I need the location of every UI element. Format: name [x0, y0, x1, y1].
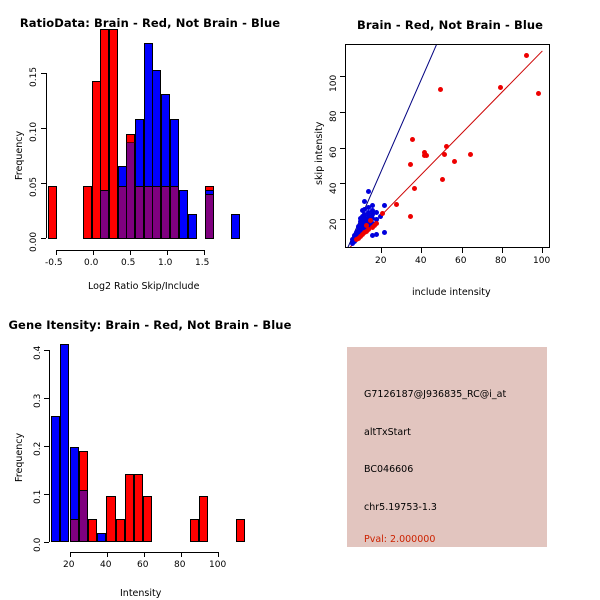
ratio-y-tick-2 — [41, 128, 46, 129]
ratio-histogram-panel: RatioData: Brain - Red, Not Brain - Blue… — [0, 0, 300, 300]
ratio-y-ticklabel-2: 0.10 — [29, 122, 39, 142]
gene-bar-red-4 — [88, 519, 97, 542]
ratio-bar-red-7 — [109, 29, 118, 239]
scatter-x-ticklabel-60: 60 — [455, 256, 466, 266]
gene-bar-blue-1 — [60, 344, 69, 542]
scatter-x-tick-40 — [421, 248, 422, 253]
scatter-point-red — [368, 218, 373, 223]
scatter-x-tick-100 — [542, 248, 543, 253]
gene-info-panel: G7126187@J936835_RC@i_at altTxStart BC04… — [300, 300, 600, 600]
ratio-x-tick-0 — [56, 250, 57, 255]
gene-bar-red-8 — [125, 474, 134, 542]
scatter-point-red — [468, 152, 473, 157]
scatter-point-red — [394, 202, 399, 207]
gene-y-axis-line — [49, 350, 50, 542]
scatter-x-tick-20 — [381, 248, 382, 253]
scatter-point-red — [422, 150, 427, 155]
ratio-bar-overlap-12b — [152, 186, 161, 239]
scatter-point-red — [372, 223, 377, 228]
probeset-id-text: G7126187@J936835_RC@i_at — [364, 389, 506, 400]
ratio-bar-red-4 — [83, 186, 92, 239]
scatter-point-red — [444, 144, 449, 149]
scatter-point-red — [524, 53, 529, 58]
gene-y-tick-2 — [44, 446, 49, 447]
scatter-title: Brain - Red, Not Brain - Blue — [300, 18, 600, 32]
scatter-y-tick-80 — [340, 112, 345, 113]
scatter-y-ticklabel-100: 100 — [329, 75, 339, 92]
gene-bar-red-10 — [143, 496, 152, 542]
gene-y-tick-3 — [44, 398, 49, 399]
gene-intensity-title: Gene Itensity: Brain - Red, Not Brain - … — [0, 318, 300, 332]
ratio-y-tick-1 — [41, 183, 46, 184]
scatter-x-ticklabel-100: 100 — [533, 256, 550, 266]
gene-x-ticklabel-80: 80 — [174, 560, 185, 570]
scatter-point-red — [410, 137, 415, 142]
scatter-point-blue — [370, 233, 375, 238]
scatter-point-red — [536, 91, 541, 96]
scatter-point-red — [380, 211, 385, 216]
scatter-x-axis-title: include intensity — [412, 287, 491, 298]
gene-bar-blue-0 — [51, 416, 60, 542]
ratio-y-axis-line — [46, 73, 47, 238]
gene-y-tick-0 — [44, 542, 49, 543]
gene-bar-red-9 — [134, 474, 143, 542]
ratio-x-axis-title: Log2 Ratio Skip/Include — [88, 281, 199, 292]
gene-bar-red-20 — [236, 519, 245, 542]
gene-bar-overlap-3 — [79, 490, 88, 542]
scatter-point-red — [408, 162, 413, 167]
ratio-bars-area — [48, 29, 248, 239]
gene-info-box: G7126187@J936835_RC@i_at altTxStart BC04… — [347, 347, 547, 547]
scatter-y-axis-title: skip intensity — [314, 122, 325, 185]
scatter-y-tick-100 — [340, 76, 345, 77]
ratio-y-ticklabel-1: 0.05 — [29, 177, 39, 197]
scatter-point-red — [440, 177, 445, 182]
gene-y-tick-4 — [44, 350, 49, 351]
gene-bar-red-15 — [190, 519, 199, 542]
gene-x-tick-20 — [70, 552, 71, 557]
gene-x-tick-80 — [181, 552, 182, 557]
ratio-y-tick-0 — [41, 238, 46, 239]
ratio-bar-overlap-13b — [161, 186, 170, 239]
ratio-x-tick-4 — [204, 250, 205, 255]
ratio-bar-overlap-6 — [100, 190, 109, 239]
scatter-point-red — [354, 237, 359, 242]
gene-x-axis-title: Intensity — [120, 588, 161, 599]
scatter-x-ticklabel-40: 40 — [415, 256, 426, 266]
ratio-bar-overlap-9b — [126, 142, 135, 239]
ratio-histogram-title: RatioData: Brain - Red, Not Brain - Blue — [0, 16, 300, 30]
pval-text: Pval: 2.000000 — [364, 534, 435, 545]
scatter-point-blue — [382, 203, 387, 208]
ratio-y-tick-3 — [41, 73, 46, 74]
gene-bars-area — [51, 344, 249, 542]
scatter-y-ticklabel-20: 20 — [329, 219, 339, 230]
scatter-y-ticklabel-80: 80 — [329, 111, 339, 122]
gene-bar-red-6 — [106, 496, 115, 542]
gene-y-ticklabel-1: 0.1 — [33, 490, 43, 504]
ratio-x-tick-1 — [93, 250, 94, 255]
ratio-y-axis-title: Frequency — [14, 131, 25, 180]
r-plot-canvas: RatioData: Brain - Red, Not Brain - Blue… — [0, 0, 600, 600]
scatter-point-red — [452, 159, 457, 164]
gene-bar-red-7 — [116, 519, 125, 542]
scatter-point-red — [438, 87, 443, 92]
ratio-x-ticklabel-0: -0.5 — [45, 258, 63, 268]
ratio-bar-blue-16 — [188, 214, 197, 239]
event-type-text: altTxStart — [364, 427, 411, 438]
ratio-y-ticklabel-3: 0.15 — [29, 67, 39, 87]
scatter-y-tick-60 — [340, 148, 345, 149]
scatter-point-red — [412, 186, 417, 191]
scatter-panel: Brain - Red, Not Brain - Blue skip inten… — [300, 0, 600, 300]
gene-bar-overlap-2 — [70, 519, 79, 542]
scatter-x-ticklabel-80: 80 — [495, 256, 506, 266]
scatter-x-tick-80 — [502, 248, 503, 253]
gene-x-ticklabel-100: 100 — [209, 560, 226, 570]
ratio-bar-overlap-14b — [170, 186, 179, 239]
ratio-x-tick-2 — [130, 250, 131, 255]
scatter-plot-area — [345, 44, 550, 248]
scatter-y-ticklabel-40: 40 — [329, 183, 339, 194]
gene-intensity-panel: Gene Itensity: Brain - Red, Not Brain - … — [0, 300, 300, 600]
scatter-point-red — [408, 214, 413, 219]
scatter-point-red — [442, 152, 447, 157]
accession-text: BC046606 — [364, 464, 413, 475]
ratio-x-tick-3 — [167, 250, 168, 255]
ratio-x-ticklabel-4: 1.5 — [195, 258, 209, 268]
gene-x-ticklabel-20: 20 — [63, 560, 74, 570]
gene-y-tick-1 — [44, 494, 49, 495]
gene-x-ticklabel-60: 60 — [137, 560, 148, 570]
scatter-y-tick-40 — [340, 183, 345, 184]
scatter-y-tick-20 — [340, 219, 345, 220]
ratio-bar-overlap-10b — [135, 186, 144, 239]
ratio-x-ticklabel-3: 1.0 — [158, 258, 172, 268]
ratio-bar-red-0 — [48, 186, 57, 239]
gene-bar-blue-5 — [97, 533, 106, 542]
scatter-x-ticklabel-20: 20 — [375, 256, 386, 266]
gene-x-tick-60 — [144, 552, 145, 557]
scatter-point-blue — [366, 189, 371, 194]
scatter-y-ticklabel-60: 60 — [329, 147, 339, 158]
gene-y-ticklabel-4: 0.4 — [33, 346, 43, 360]
gene-y-ticklabel-3: 0.3 — [33, 394, 43, 408]
gene-y-axis-title: Frequency — [14, 433, 25, 482]
gene-y-ticklabel-2: 0.2 — [33, 442, 43, 456]
gene-x-ticklabel-40: 40 — [100, 560, 111, 570]
ratio-bar-blue-15 — [179, 190, 188, 239]
genomic-locus-text: chr5.19753-1.3 — [364, 502, 437, 513]
gene-y-ticklabel-0: 0.0 — [33, 538, 43, 552]
ratio-y-ticklabel-0: 0.00 — [29, 232, 39, 252]
ratio-x-ticklabel-1: 0.0 — [84, 258, 98, 268]
gene-bar-red-16 — [199, 496, 208, 542]
gene-x-tick-100 — [218, 552, 219, 557]
scatter-x-tick-60 — [462, 248, 463, 253]
gene-x-tick-40 — [107, 552, 108, 557]
scatter-point-blue — [382, 230, 387, 235]
scatter-point-red — [364, 223, 369, 228]
ratio-bar-blue-21 — [231, 214, 240, 239]
ratio-bar-overlap-18c — [205, 194, 214, 239]
ratio-x-ticklabel-2: 0.5 — [121, 258, 135, 268]
